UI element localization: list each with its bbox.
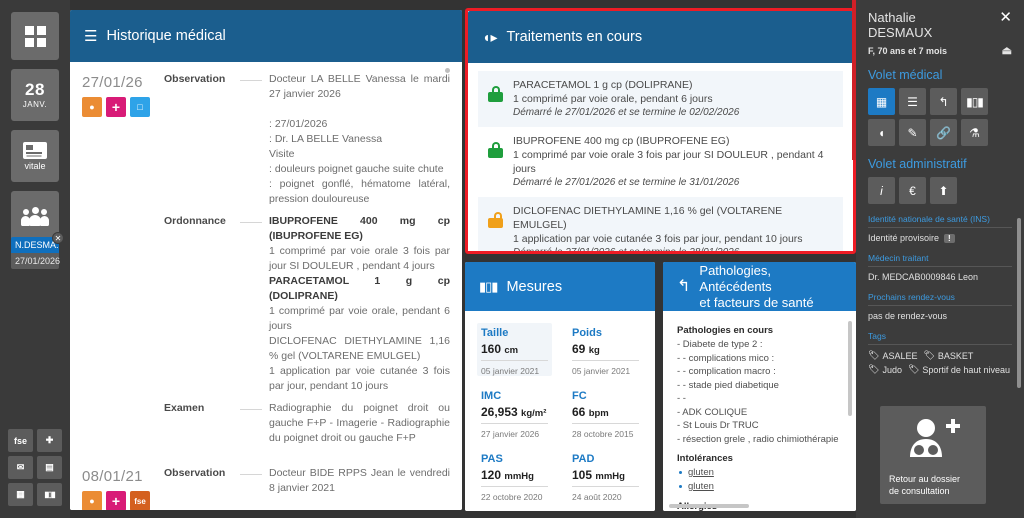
history-entry-actions: ●+□ xyxy=(82,97,164,117)
history-row-label: Ordonnance xyxy=(164,214,240,394)
measure-key: IMC xyxy=(481,390,548,402)
measure-unit: mmHg xyxy=(504,471,534,482)
return-to-consultation-button[interactable]: Retour au dossier de consultation xyxy=(880,406,986,504)
history-back-button[interactable]: ↰ xyxy=(930,88,957,115)
measures-chart-button[interactable]: ▮▯▮ xyxy=(961,88,988,115)
measure-number: 26,953 xyxy=(481,405,518,419)
history-text-line: : poignet gonflé, hématome latéral, pres… xyxy=(269,177,450,207)
measure-value: 69 kg xyxy=(572,342,639,361)
history-text-line: : 27/01/2026 xyxy=(269,117,450,132)
billing-button[interactable]: € xyxy=(899,177,926,204)
measure-cell[interactable]: IMC26,953 kg/m²27 janvier 2026 xyxy=(477,386,552,439)
current-treatments-body: PARACETAMOL 1 g cp (DOLIPRANE)1 comprimé… xyxy=(468,63,853,251)
measure-unit: kg/m² xyxy=(521,408,546,419)
measure-date: 05 janvier 2021 xyxy=(481,366,548,376)
measure-cell[interactable]: Poids69 kg05 janvier 2021 xyxy=(568,323,643,376)
measure-cell[interactable]: PAD105 mmHg24 août 2020 xyxy=(568,449,643,502)
patient-demographics: F, 70 ans et 7 mois xyxy=(868,46,947,56)
measure-number: 69 xyxy=(572,342,585,356)
pathologies-body[interactable]: Pathologies en cours- Diabete de type 2 … xyxy=(663,311,856,511)
treatments-pill-button[interactable]: ◖ xyxy=(868,119,895,146)
tags-label: Tags xyxy=(868,331,1012,345)
unlock-icon[interactable] xyxy=(488,212,503,228)
person-chip[interactable]: ● xyxy=(82,97,102,117)
upload-button[interactable]: ⬆ xyxy=(930,177,957,204)
pathology-section-heading: Intolérances xyxy=(677,453,842,464)
patient-field-label: Prochains rendez-vous xyxy=(868,292,1012,306)
measures-header: ▮▯▮ Mesures xyxy=(465,262,655,311)
measure-date: 27 janvier 2026 xyxy=(481,429,548,439)
pathologies-vertical-scrollbar[interactable] xyxy=(848,321,852,416)
application-window: 28 JANV. vitale ✕ N.DESMA... 27/01/2026 … xyxy=(0,0,1024,518)
grid-icon xyxy=(25,26,46,47)
tag-icon: 🏷 xyxy=(868,350,879,361)
measure-unit: cm xyxy=(504,345,518,356)
history-entry-date: 08/01/21 xyxy=(82,468,164,485)
medical-history-title: Historique médical xyxy=(106,28,225,44)
patient-field-value: Identité provisoire! xyxy=(868,233,1012,243)
tags-list: 🏷ASALEE🏷BASKET🏷Judo🏷Sportif de haut nive… xyxy=(868,350,1012,375)
statistics-icon[interactable]: ▮▯▮ xyxy=(37,483,62,506)
treatment-info: DICLOFENAC DIETHYLAMINE 1,16 % gel (VOLT… xyxy=(513,204,833,251)
treatment-dates: Démarré le 27/01/2026 et se termine le 3… xyxy=(513,176,833,190)
history-text-line: : Dr. LA BELLE Vanessa xyxy=(269,132,450,147)
history-row-divider xyxy=(240,222,262,394)
lock-icon[interactable] xyxy=(488,142,503,158)
history-row-text: Radiographie du poignet droit ou gauche … xyxy=(269,401,450,446)
medical-section-title: Volet médical xyxy=(868,68,1012,82)
measures-title: Mesures xyxy=(506,279,562,295)
measure-value: 26,953 kg/m² xyxy=(481,405,548,424)
treatment-dose: 1 comprimé par voie orale 3 fois par jou… xyxy=(513,148,833,176)
documents-icon[interactable]: ▤ xyxy=(37,456,62,479)
info-button[interactable]: i xyxy=(868,177,895,204)
history-row-divider xyxy=(240,474,262,510)
treatment-dose: 1 application par voie cutanée 3 fois pa… xyxy=(513,232,833,246)
patient-demographics-row: F, 70 ans et 7 mois ⏏ xyxy=(868,44,1012,57)
rail-bottom-tools: fse ✚ ✉ ▤ ▦ ▮▯▮ xyxy=(8,429,62,510)
history-entry-date: 27/01/26 xyxy=(82,74,164,91)
pathologies-title: Pathologies, Antécédents et facteurs de … xyxy=(699,263,842,311)
card-icon xyxy=(23,142,47,159)
patient-detail-panel: ✕ Nathalie DESMAUX F, 70 ans et 7 mois ⏏… xyxy=(856,0,1024,518)
list-button[interactable]: ☰ xyxy=(899,88,926,115)
dashboard-button[interactable]: ▦ xyxy=(868,88,895,115)
measure-unit: kg xyxy=(589,345,600,356)
agenda-day: 28 xyxy=(25,81,45,99)
treatments-highlight-frame: ◖▸ Traitements en cours PARACETAMOL 1 g … xyxy=(465,8,856,254)
history-entry-rows: ObservationDocteur BIDE RPPS Jean le ven… xyxy=(164,466,450,510)
history-entry-separator xyxy=(82,455,450,466)
treatment-name: PARACETAMOL 1 g cp (DOLIPRANE) xyxy=(513,78,833,92)
history-entry-date-column: 08/01/21●+fse xyxy=(82,466,164,510)
patient-tag[interactable]: 🏷ASALEE xyxy=(868,350,917,361)
patient-field-text: Identité provisoire xyxy=(868,233,939,243)
history-row: ObservationDocteur LA BELLE Vanessa le m… xyxy=(164,72,450,207)
tag-label: Judo xyxy=(882,365,902,375)
lab-button[interactable]: ⚗ xyxy=(961,119,988,146)
history-text-line: Docteur LA BELLE Vanessa le mardi 27 jan… xyxy=(269,72,450,102)
lock-icon[interactable] xyxy=(488,86,503,102)
pathologies-title-line1: Pathologies, Antécédents xyxy=(699,263,771,294)
vitale-label: vitale xyxy=(24,161,45,171)
treatment-info: PARACETAMOL 1 g cp (DOLIPRANE)1 comprimé… xyxy=(513,78,833,120)
pathologies-header: ↰ Pathologies, Antécédents et facteurs d… xyxy=(663,262,856,311)
admin-buttons-group: i€⬆ xyxy=(868,177,1012,204)
pathologies-panel: ↰ Pathologies, Antécédents et facteurs d… xyxy=(663,262,856,511)
history-text-line: IBUPROFENE 400 mg cp (IBUPROFENE EG) xyxy=(269,214,450,244)
history-row-divider xyxy=(240,409,262,446)
document-chip[interactable]: □ xyxy=(130,97,150,117)
patient-first-name: Nathalie xyxy=(868,10,1012,25)
measure-key: PAD xyxy=(572,453,639,465)
fse-chip[interactable]: fse xyxy=(130,491,150,510)
return-button-label: Retour au dossier de consultation xyxy=(880,473,960,497)
history-text-line: 1 application par voie cutanée 3 fois pa… xyxy=(269,364,450,394)
history-text-line xyxy=(269,496,450,510)
pathology-line: - - stade pied diabetique xyxy=(677,379,842,393)
pathology-line: - Diabete de type 2 : xyxy=(677,338,842,352)
tag-icon: 🏷 xyxy=(923,350,934,361)
history-row: OrdonnanceIBUPROFENE 400 mg cp (IBUPROFE… xyxy=(164,214,450,394)
attachment-button[interactable]: 🔗 xyxy=(930,119,957,146)
medical-history-body[interactable]: 27/01/26●+□ObservationDocteur LA BELLE V… xyxy=(70,62,462,510)
tag-label: ASALEE xyxy=(882,351,917,361)
measure-key: Poids xyxy=(572,327,639,339)
history-row: ObservationDocteur BIDE RPPS Jean le ven… xyxy=(164,466,450,510)
history-row-divider xyxy=(240,80,262,207)
treatment-name: DICLOFENAC DIETHYLAMINE 1,16 % gel (VOLT… xyxy=(513,204,833,232)
warning-badge[interactable]: ! xyxy=(944,234,955,243)
measure-value: 120 mmHg xyxy=(481,468,548,487)
history-entry-date-column: 27/01/26●+□ xyxy=(82,72,164,453)
measure-unit: mmHg xyxy=(595,471,625,482)
return-label-line1: Retour au dossier xyxy=(889,474,960,484)
history-text-line: Visite xyxy=(269,147,450,162)
treatment-dates: Démarré le 27/01/2026 et se termine le 2… xyxy=(513,246,833,251)
patient-field-text: Dr. MEDCAB0009846 Leon xyxy=(868,272,978,282)
patient-field-value: pas de rendez-vous xyxy=(868,311,1012,321)
pathology-line: - St Louis Dr TRUC xyxy=(677,419,842,433)
tag-icon: 🏷 xyxy=(868,364,879,375)
treatment-info: IBUPROFENE 400 mg cp (IBUPROFENE EG)1 co… xyxy=(513,134,833,190)
return-label-line2: de consultation xyxy=(889,486,950,496)
patient-tag[interactable]: 🏷BASKET xyxy=(923,350,973,361)
treatment-name: IBUPROFENE 400 mg cp (IBUPROFENE EG) xyxy=(513,134,833,148)
history-entry: 27/01/26●+□ObservationDocteur LA BELLE V… xyxy=(82,72,450,453)
history-row-label: Observation xyxy=(164,72,240,207)
patient-field-text: pas de rendez-vous xyxy=(868,311,947,321)
back-arrow-icon[interactable]: ↰ xyxy=(677,279,690,295)
pathology-section-heading: Pathologies en cours xyxy=(677,325,842,336)
treatment-row[interactable]: DICLOFENAC DIETHYLAMINE 1,16 % gel (VOLT… xyxy=(478,197,843,251)
close-icon[interactable]: ✕ xyxy=(52,232,64,244)
history-row-label: Observation xyxy=(164,466,240,510)
calculator-icon[interactable]: ▦ xyxy=(8,483,33,506)
measure-number: 66 xyxy=(572,405,585,419)
list-icon: ☰ xyxy=(84,27,97,45)
medical-history-header: ☰ Historique médical xyxy=(70,10,462,62)
pharmacy-icon[interactable]: ✚ xyxy=(37,429,62,452)
current-treatments-title: Traitements en cours xyxy=(506,29,642,45)
patient-panel-scrollbar[interactable] xyxy=(1017,218,1021,388)
patient-last-name: DESMAUX xyxy=(868,25,1012,40)
admin-section-title: Volet administratif xyxy=(868,157,1012,171)
history-entry-actions: ●+fse xyxy=(82,491,164,510)
mail-icon[interactable]: ✉ xyxy=(8,456,33,479)
pathology-line: - ADK COLIQUE xyxy=(677,406,842,420)
tag-label: Sportif de haut niveau xyxy=(922,365,1010,375)
patient-add-icon xyxy=(904,406,962,473)
measure-number: 160 xyxy=(481,342,501,356)
pathology-line: - - complication macro : xyxy=(677,365,842,379)
pathology-line: - - xyxy=(677,392,842,406)
pathology-bullet[interactable]: gluten xyxy=(677,480,842,494)
scroll-indicator-dot xyxy=(445,68,450,73)
medical-history-panel: ☰ Historique médical 27/01/26●+□Observat… xyxy=(70,10,462,510)
open-patient-tab[interactable]: ✕ N.DESMA... 27/01/2026 xyxy=(11,237,59,269)
measure-date: 05 janvier 2021 xyxy=(572,366,639,376)
add-chip[interactable]: + xyxy=(106,97,126,117)
history-text-line: PARACETAMOL 1 g cp (DOLIPRANE) xyxy=(269,274,450,304)
history-text-line: : douleurs poignet gauche suite chute xyxy=(269,162,450,177)
measure-value: 66 bpm xyxy=(572,405,639,424)
patient-tag[interactable]: 🏷Sportif de haut niveau xyxy=(908,364,1010,375)
history-text-line: Radiographie du poignet droit ou gauche … xyxy=(269,401,450,446)
measure-key: Taille xyxy=(481,327,548,339)
treatment-row[interactable]: PARACETAMOL 1 g cp (DOLIPRANE)1 comprimé… xyxy=(478,71,843,127)
vaccine-button[interactable]: ✎ xyxy=(899,119,926,146)
pathology-bullet[interactable]: gluten xyxy=(677,466,842,480)
tag-label: BASKET xyxy=(938,351,974,361)
history-entry: 08/01/21●+fseObservationDocteur BIDE RPP… xyxy=(82,466,450,510)
patient-tab-date: 27/01/2026 xyxy=(11,253,59,269)
measure-key: FC xyxy=(572,390,639,402)
apps-button[interactable] xyxy=(11,12,59,60)
medical-buttons-group: ▦☰↰▮▯▮◖✎🔗⚗ xyxy=(868,88,1012,146)
history-text-line: Docteur BIDE RPPS Jean le vendredi 8 jan… xyxy=(269,466,450,496)
close-panel-button[interactable]: ✕ xyxy=(999,10,1012,25)
history-row-label: Examen xyxy=(164,401,240,446)
history-entry-rows: ObservationDocteur LA BELLE Vanessa le m… xyxy=(164,72,450,453)
bar-chart-icon: ▮▯▮ xyxy=(479,279,497,295)
measure-number: 105 xyxy=(572,468,592,482)
add-chip[interactable]: + xyxy=(106,491,126,510)
current-treatments-panel: ◖▸ Traitements en cours PARACETAMOL 1 g … xyxy=(468,11,853,251)
measure-value: 105 mmHg xyxy=(572,468,639,487)
history-text-line xyxy=(269,102,450,117)
pathology-line: - résection grele , radio chimiothérapie xyxy=(677,433,842,447)
export-icon[interactable]: ⏏ xyxy=(1002,44,1012,57)
people-icon xyxy=(21,207,49,227)
current-treatments-header: ◖▸ Traitements en cours xyxy=(468,11,853,63)
measure-date: 28 octobre 2015 xyxy=(572,429,639,439)
treatment-row[interactable]: IBUPROFENE 400 mg cp (IBUPROFENE EG)1 co… xyxy=(478,127,843,197)
history-text-line: 1 comprimé par voie orale, pendant 6 jou… xyxy=(269,304,450,334)
treatment-dates: Démarré le 27/01/2026 et se termine le 0… xyxy=(513,106,833,120)
measure-cell[interactable]: PAS120 mmHg22 octobre 2020 xyxy=(477,449,552,502)
vitale-card-button[interactable]: vitale xyxy=(11,130,59,182)
pathology-line: - - complications mico : xyxy=(677,352,842,366)
history-row-text: Docteur BIDE RPPS Jean le vendredi 8 jan… xyxy=(269,466,450,510)
measures-body: Taille160 cm05 janvier 2021Poids69 kg05 … xyxy=(465,311,655,511)
fse-button[interactable]: fse xyxy=(8,429,33,452)
history-text-line: DICLOFENAC DIETHYLAMINE 1,16 % gel (VOLT… xyxy=(269,334,450,364)
measure-key: PAS xyxy=(481,453,548,465)
history-row-text: Docteur LA BELLE Vanessa le mardi 27 jan… xyxy=(269,72,450,207)
measure-cell[interactable]: Taille160 cm05 janvier 2021 xyxy=(477,323,552,376)
agenda-month: JANV. xyxy=(23,100,47,109)
measure-unit: bpm xyxy=(589,408,609,419)
patient-tag[interactable]: 🏷Judo xyxy=(868,364,902,375)
pathologies-title-line2: et facteurs de santé xyxy=(699,295,813,310)
agenda-button[interactable]: 28 JANV. xyxy=(11,69,59,121)
tag-icon: 🏷 xyxy=(908,364,919,375)
measure-value: 160 cm xyxy=(481,342,548,361)
measures-panel: ▮▯▮ Mesures Taille160 cm05 janvier 2021P… xyxy=(465,262,655,511)
history-text-line: 1 comprimé par voie orale 3 fois par jou… xyxy=(269,244,450,274)
left-navigation-rail: 28 JANV. vitale ✕ N.DESMA... 27/01/2026 … xyxy=(0,0,70,518)
history-row-text: IBUPROFENE 400 mg cp (IBUPROFENE EG)1 co… xyxy=(269,214,450,394)
measure-date: 24 août 2020 xyxy=(572,492,639,502)
patient-field-label: Médecin traitant xyxy=(868,253,1012,267)
patient-field-value: Dr. MEDCAB0009846 Leon xyxy=(868,272,1012,282)
measure-date: 22 octobre 2020 xyxy=(481,492,548,502)
pill-icon: ◖▸ xyxy=(482,29,497,46)
measure-cell[interactable]: FC66 bpm28 octobre 2015 xyxy=(568,386,643,439)
measure-number: 120 xyxy=(481,468,501,482)
patient-field-label: Identité nationale de santé (INS) xyxy=(868,214,1012,228)
treatment-dose: 1 comprimé par voie orale, pendant 6 jou… xyxy=(513,92,833,106)
history-row: ExamenRadiographie du poignet droit ou g… xyxy=(164,401,450,446)
pathologies-horizontal-scrollbar[interactable] xyxy=(669,504,749,508)
person-chip[interactable]: ● xyxy=(82,491,102,510)
